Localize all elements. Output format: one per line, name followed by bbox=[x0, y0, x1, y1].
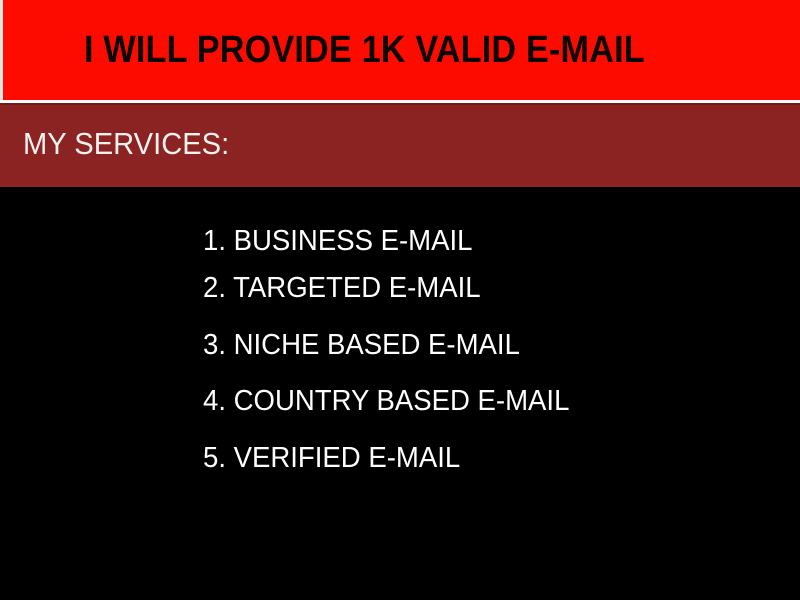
section-band-top-edge bbox=[0, 103, 800, 105]
section-heading-band: MY SERVICES: bbox=[0, 103, 800, 187]
list-item: 4. COUNTRY BASED E-MAIL bbox=[203, 384, 569, 418]
list-item: 5. VERIFIED E-MAIL bbox=[203, 441, 460, 475]
section-heading: MY SERVICES: bbox=[23, 125, 229, 163]
list-item: 1. BUSINESS E-MAIL bbox=[203, 224, 472, 258]
list-item: 2. TARGETED E-MAIL bbox=[203, 271, 481, 305]
slide-canvas: I WILL PROVIDE 1K VALID E-MAIL MY SERVIC… bbox=[0, 0, 800, 600]
page-title: I WILL PROVIDE 1K VALID E-MAIL bbox=[84, 27, 678, 73]
services-list: 1. BUSINESS E-MAIL 2. TARGETED E-MAIL 3.… bbox=[0, 187, 800, 600]
list-item: 3. NICHE BASED E-MAIL bbox=[203, 328, 520, 362]
title-banner-left-edge bbox=[0, 0, 3, 100]
title-banner: I WILL PROVIDE 1K VALID E-MAIL bbox=[0, 0, 800, 100]
